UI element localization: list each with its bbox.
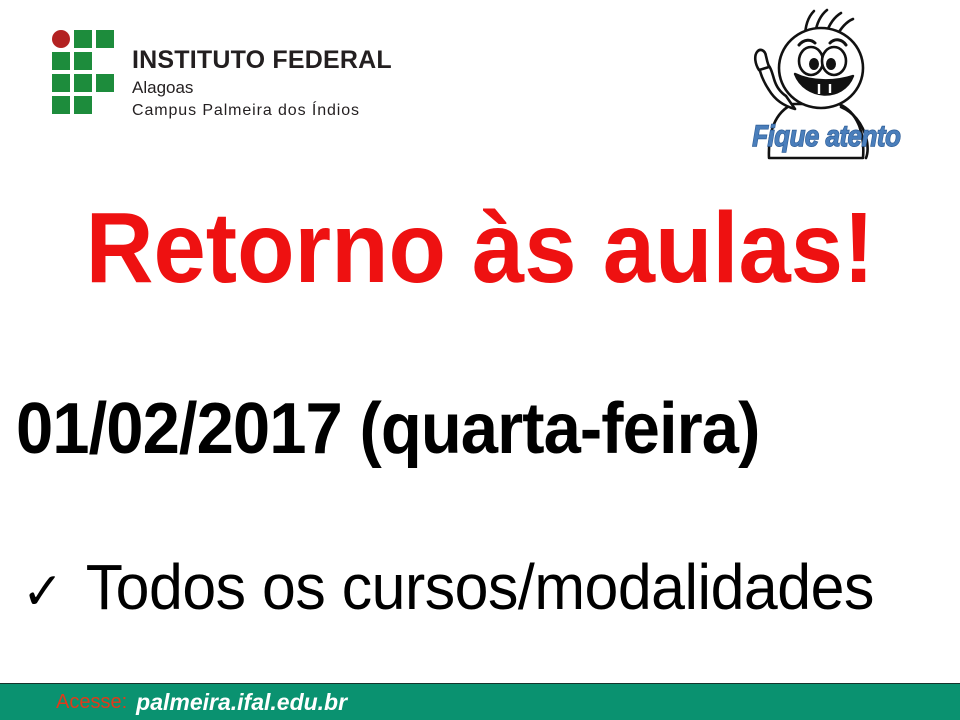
check-icon: ✓ xyxy=(22,564,63,621)
slide-canvas: INSTITUTO FEDERAL Alagoas Campus Palmeir… xyxy=(0,0,960,720)
institution-logo: INSTITUTO FEDERAL Alagoas Campus Palmeir… xyxy=(52,30,392,119)
bullet-text: Todos os cursos/modalidades xyxy=(86,552,874,622)
logo-tile xyxy=(74,74,92,92)
footer-label: Acesse: xyxy=(56,691,127,714)
logo-tile xyxy=(52,52,70,70)
bullet-item: ✓ Todos os cursos/modalidades xyxy=(22,552,906,622)
logo-tile xyxy=(96,74,114,92)
page-title: Retorno às aulas! xyxy=(29,196,931,301)
logo-tile-empty xyxy=(96,52,114,70)
attention-caption: Fique atento xyxy=(752,120,890,154)
logo-tile xyxy=(74,52,92,70)
logo-text-block: INSTITUTO FEDERAL Alagoas Campus Palmeir… xyxy=(132,30,392,119)
footer-bar: Acesse: palmeira.ifal.edu.br xyxy=(0,683,960,720)
logo-tile xyxy=(52,96,70,114)
logo-title: INSTITUTO FEDERAL xyxy=(132,48,392,73)
logo-tile xyxy=(52,74,70,92)
date-line: 01/02/2017 (quarta-feira) xyxy=(16,390,879,469)
ifal-grid-logo-icon xyxy=(52,30,114,118)
footer-url[interactable]: palmeira.ifal.edu.br xyxy=(136,689,347,716)
logo-tile xyxy=(74,30,92,48)
logo-tile xyxy=(96,30,114,48)
attention-badge: Fique atento xyxy=(735,8,905,173)
logo-tile-empty xyxy=(96,96,114,114)
logo-state: Alagoas xyxy=(132,79,392,96)
logo-tile xyxy=(74,96,92,114)
logo-tile-red-dot xyxy=(52,30,70,48)
logo-campus: Campus Palmeira dos Índios xyxy=(132,103,392,119)
